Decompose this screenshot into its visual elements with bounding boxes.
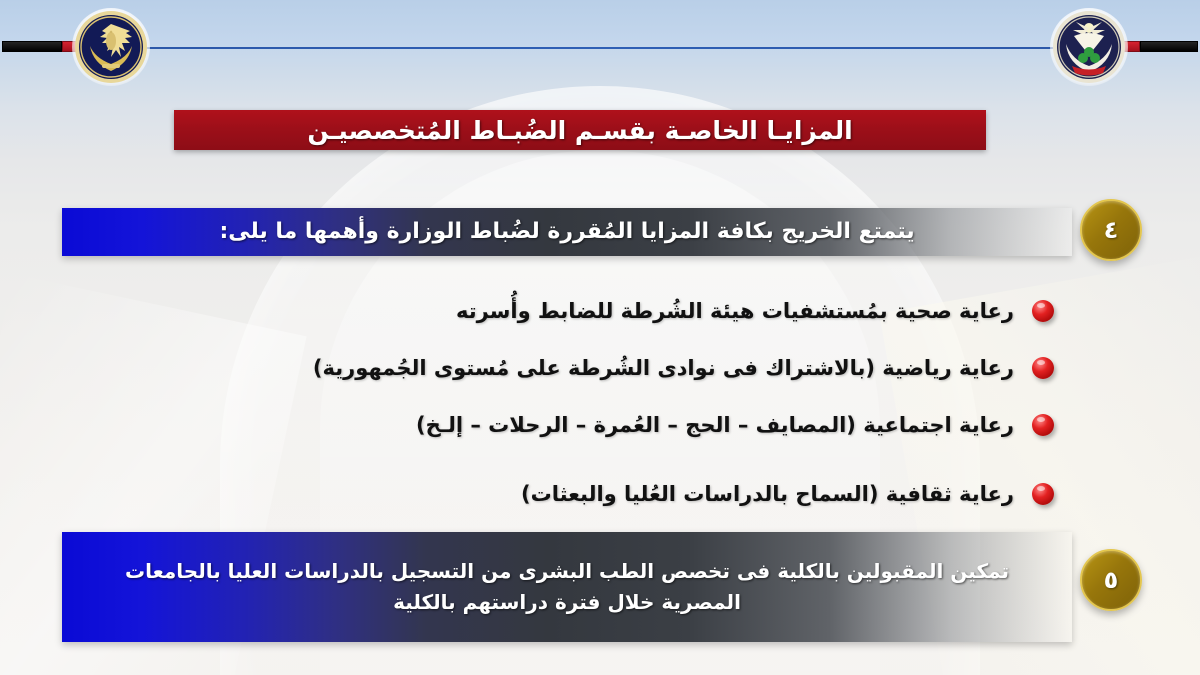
list-item: رعاية ثقافية (السماح بالدراسات العُليا و… — [62, 465, 1072, 522]
deco-black-segment — [1140, 41, 1198, 52]
note-banner: تمكين المقبولين بالكلية فى تخصص الطب الب… — [62, 532, 1072, 642]
page-title: المزايـا الخاصـة بقسـم الضُبـاط المُتخصص… — [307, 116, 852, 145]
list-item-label: رعاية ثقافية (السماح بالدراسات العُليا و… — [521, 482, 1014, 506]
slide-title-banner: المزايـا الخاصـة بقسـم الضُبـاط المُتخصص… — [174, 110, 986, 150]
step-badge-5: ٥ — [1080, 549, 1142, 611]
svg-text:★: ★ — [109, 29, 113, 34]
deco-black-segment — [2, 41, 62, 52]
intro-banner: يتمتع الخريج بكافة المزايا المُقررة لضُب… — [62, 208, 1072, 256]
police-academy-emblem-icon — [1050, 8, 1128, 86]
list-item-label: رعاية اجتماعية (المصايف – الحج – العُمرة… — [416, 413, 1014, 437]
step-badge-number: ٥ — [1104, 566, 1119, 594]
bullet-dot-icon — [1032, 483, 1054, 505]
egypt-police-eagle-emblem-icon: ★ — [72, 8, 150, 86]
note-banner-text: تمكين المقبولين بالكلية فى تخصص الطب الب… — [96, 556, 1038, 618]
list-item: رعاية صحية بمُستشفيات هيئة الشُرطة للضاب… — [62, 282, 1072, 339]
header-divider-line — [120, 47, 1080, 49]
list-item: رعاية اجتماعية (المصايف – الحج – العُمرة… — [62, 396, 1072, 453]
step-badge-4: ٤ — [1080, 199, 1142, 261]
step-badge-number: ٤ — [1104, 216, 1119, 244]
list-item-label: رعاية صحية بمُستشفيات هيئة الشُرطة للضاب… — [456, 299, 1014, 323]
slide-header: ★ — [0, 0, 1200, 92]
list-item: رعاية رياضية (بالاشتراك فى نوادى الشُرطة… — [62, 339, 1072, 396]
bullet-dot-icon — [1032, 414, 1054, 436]
list-item-label: رعاية رياضية (بالاشتراك فى نوادى الشُرطة… — [313, 356, 1014, 380]
bullet-dot-icon — [1032, 300, 1054, 322]
benefits-list: رعاية صحية بمُستشفيات هيئة الشُرطة للضاب… — [62, 282, 1072, 512]
slide-root: ★ المزايـا الخاصـة بقسـم الضُبـاط المُتخ… — [0, 0, 1200, 675]
intro-banner-text: يتمتع الخريج بكافة المزايا المُقررة لضُب… — [219, 215, 914, 249]
bullet-dot-icon — [1032, 357, 1054, 379]
